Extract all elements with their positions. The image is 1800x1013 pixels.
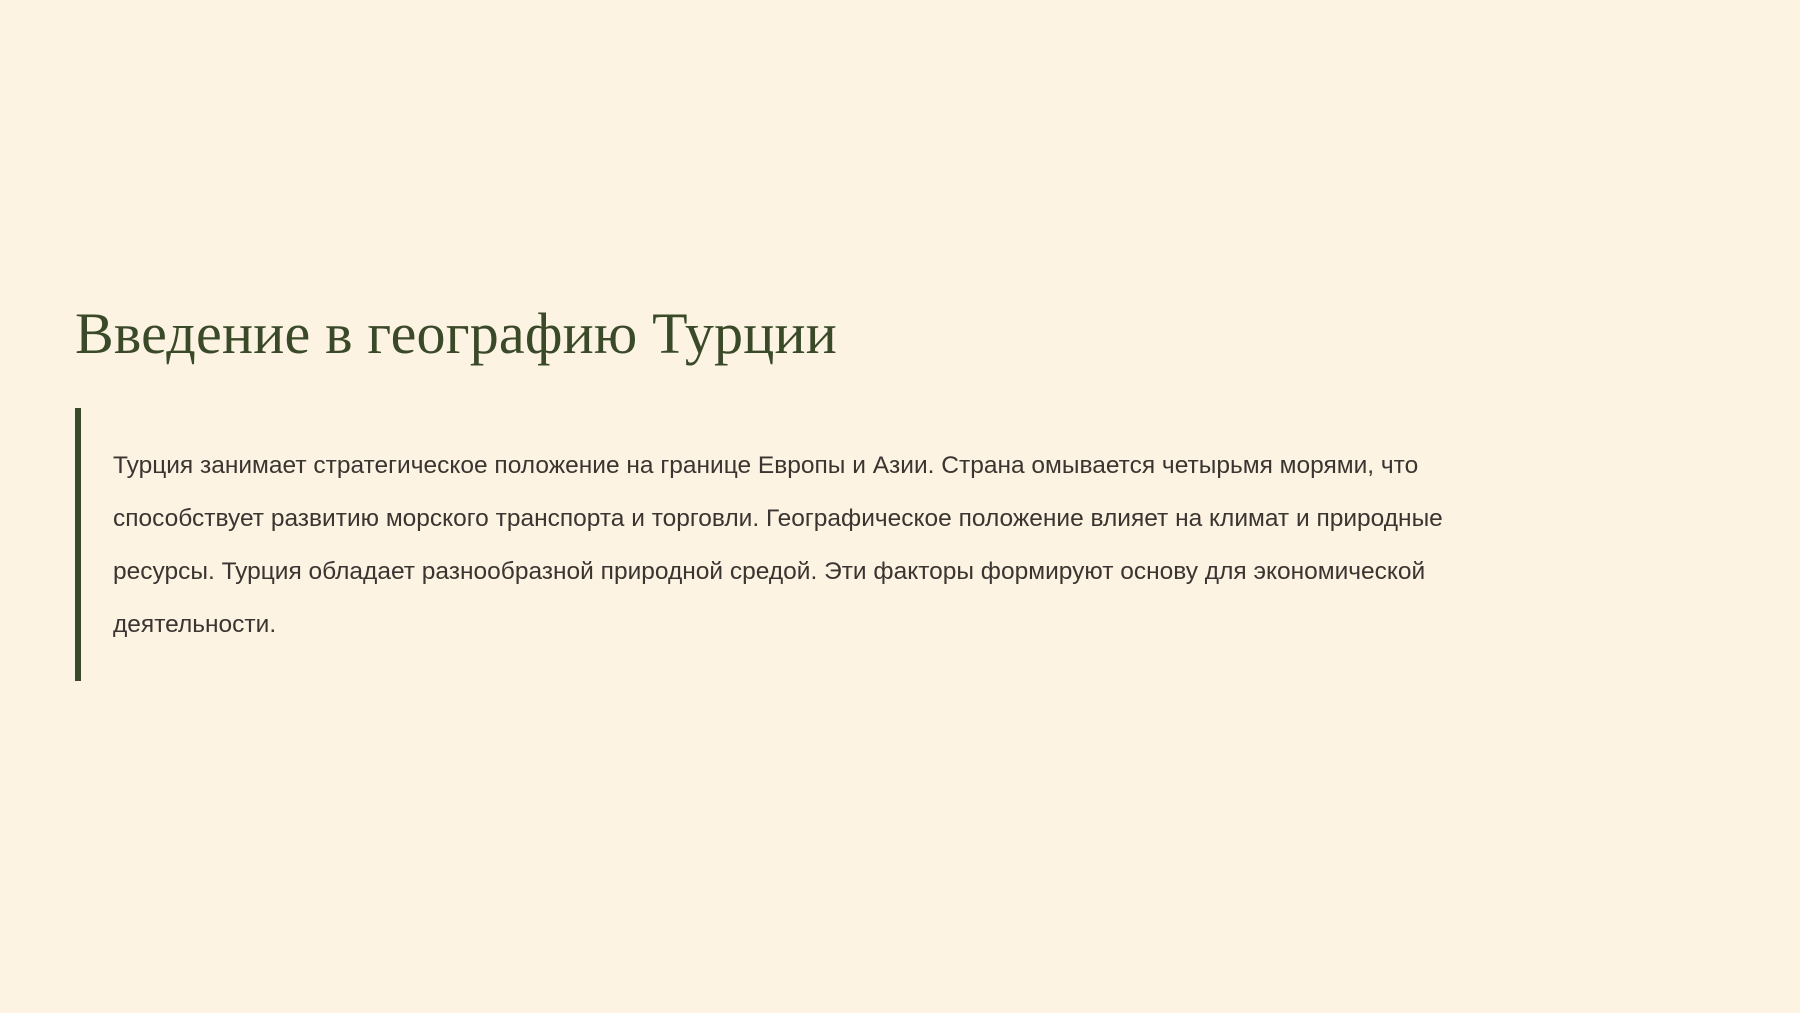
quote-block: Турция занимает стратегическое положение…	[75, 408, 1735, 681]
content-block: Введение в географию Турции Турция заним…	[75, 300, 1735, 681]
slide-canvas: Введение в географию Турции Турция заним…	[0, 0, 1800, 1013]
body-paragraph: Турция занимает стратегическое положение…	[81, 433, 1533, 657]
page-title: Введение в географию Турции	[75, 300, 1735, 368]
